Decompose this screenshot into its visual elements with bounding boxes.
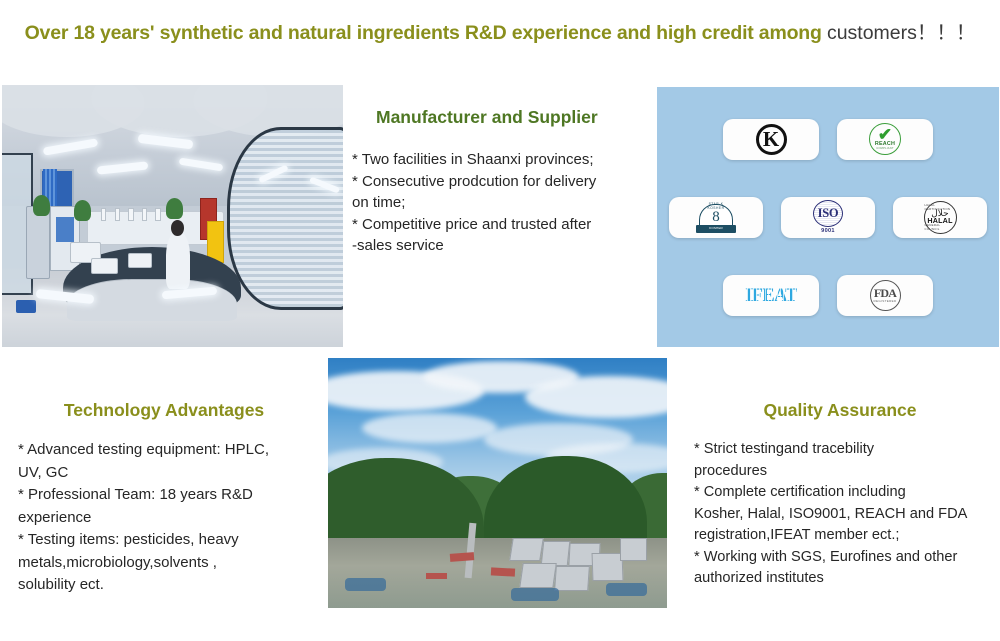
reagent-vial — [101, 208, 106, 221]
kosher-k-icon: K — [756, 124, 787, 155]
lab-instrument — [91, 258, 118, 274]
apartment-building — [620, 538, 647, 561]
lab-technician — [166, 232, 190, 290]
certification-row: IFEAT FDA REGISTERED — [669, 275, 987, 316]
kosher-seal-numeral: 8 — [712, 210, 720, 225]
cert-card-kosher-seal[interactable]: STAR-K KOSHER 8 KOSHER — [669, 197, 763, 238]
blue-storage-box — [16, 300, 36, 313]
manufacturer-block: Manufacturer and Supplier * Two faciliti… — [352, 105, 652, 257]
cert-card-ifeat[interactable]: IFEAT — [723, 275, 819, 316]
reagent-vial — [142, 208, 147, 221]
certification-row: K ✔ REACH COMPLIANT — [669, 119, 987, 160]
potted-plant — [166, 198, 183, 219]
cert-card-halal[interactable]: HALAL CERTIFICATION حلال HALAL GENERAL C… — [893, 197, 987, 238]
red-roof — [426, 573, 446, 579]
certification-row: STAR-K KOSHER 8 KOSHER ISO 9001 — [669, 197, 987, 238]
kosher-seal-bar-text: KOSHER — [696, 225, 736, 233]
iso-label: ISO — [818, 207, 839, 220]
cert-card-fda[interactable]: FDA REGISTERED — [837, 275, 933, 316]
halal-top-text: HALAL CERTIFICATION — [925, 203, 956, 211]
manufacturer-title: Manufacturer and Supplier — [352, 105, 652, 129]
red-roof — [491, 567, 515, 576]
fda-icon: FDA REGISTERED — [870, 280, 901, 311]
lab-instrument — [128, 253, 152, 269]
technology-title: Technology Advantages — [18, 398, 330, 422]
fda-sublabel: REGISTERED — [873, 299, 896, 303]
iso-ring: ISO — [813, 200, 843, 227]
laboratory-photo — [2, 85, 343, 347]
promo-page: Over 18 years' synthetic and natural ing… — [0, 0, 1000, 641]
manufacturer-body: * Two facilities in Shaanxi provinces; *… — [352, 149, 652, 257]
water-body — [345, 578, 386, 591]
cloud — [362, 413, 498, 443]
halal-icon: HALAL CERTIFICATION حلال HALAL GENERAL C… — [924, 201, 957, 234]
fda-label: FDA — [874, 288, 896, 299]
potted-plant — [74, 200, 91, 221]
town-aerial-photo — [328, 358, 667, 608]
kosher-seal-arc-text: STAR-K KOSHER — [700, 202, 732, 210]
reagent-vial — [155, 208, 160, 221]
headline-main-text: Over 18 years' synthetic and natural ing… — [25, 22, 827, 44]
glass-enclosure — [227, 127, 343, 310]
cert-card-iso[interactable]: ISO 9001 — [781, 197, 875, 238]
technology-block: Technology Advantages * Advanced testing… — [18, 398, 330, 597]
quality-block: Quality Assurance * Strict testingand tr… — [694, 398, 996, 590]
ifeat-icon: IFEAT — [745, 286, 797, 305]
quality-body: * Strict testingand tracebility procedur… — [694, 439, 996, 590]
quality-title: Quality Assurance — [694, 398, 996, 422]
kosher-seal-icon: STAR-K KOSHER 8 KOSHER — [693, 200, 739, 234]
technology-body: * Advanced testing equipment: HPLC, UV, … — [18, 439, 330, 597]
water-body — [511, 588, 558, 601]
iso-sublabel: 9001 — [821, 228, 835, 234]
apartment-building — [554, 566, 590, 591]
cert-card-kosher[interactable]: K — [723, 119, 819, 160]
check-icon: ✔ — [878, 129, 892, 141]
cert-card-reach[interactable]: ✔ REACH COMPLIANT — [837, 119, 933, 160]
iso-icon: ISO 9001 — [813, 200, 843, 235]
apartment-building — [519, 563, 556, 588]
lab-refrigerator — [26, 206, 50, 279]
reagent-vial — [128, 208, 133, 221]
headline-tail-text: customers！！！ — [827, 22, 975, 44]
page-headline: Over 18 years' synthetic and natural ing… — [0, 18, 1000, 48]
apartment-building — [540, 541, 570, 566]
potted-plant — [33, 195, 50, 216]
apartment-building — [509, 538, 543, 561]
reach-icon: ✔ REACH COMPLIANT — [869, 123, 901, 155]
certification-panel: K ✔ REACH COMPLIANT STAR-K KOSHER 8 — [657, 87, 999, 347]
water-body — [606, 583, 647, 596]
reagent-vial — [115, 208, 120, 221]
halal-bottom-text: GENERAL COUNCIL — [925, 223, 956, 231]
certification-grid: K ✔ REACH COMPLIANT STAR-K KOSHER 8 — [657, 87, 999, 347]
reach-sublabel: COMPLIANT — [876, 147, 893, 151]
